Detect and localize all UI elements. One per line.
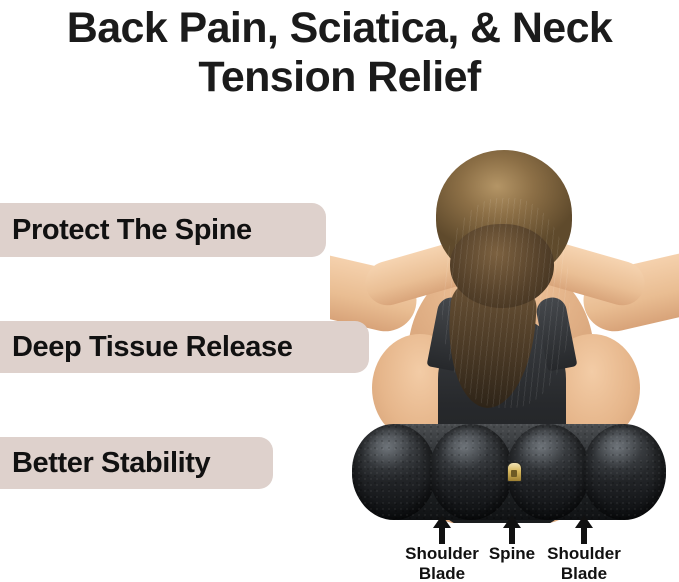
- annotation-shoulder-blade-right: Shoulder Blade: [534, 518, 634, 582]
- brand-logo-icon: [507, 462, 522, 482]
- annotation-label: Shoulder Blade: [534, 544, 634, 582]
- feature-badge-label: Better Stability: [12, 449, 210, 478]
- roller-lobe: [352, 424, 436, 520]
- page-title: Back Pain, Sciatica, & Neck Tension Reli…: [0, 4, 679, 102]
- feature-badge-deep-tissue-release: Deep Tissue Release: [0, 321, 369, 373]
- feature-badge-better-stability: Better Stability: [0, 437, 273, 489]
- feature-badge-label: Deep Tissue Release: [12, 333, 292, 362]
- annotation-label: Shoulder Blade: [392, 544, 492, 582]
- feature-badge-label: Protect The Spine: [12, 216, 252, 245]
- hair-strands: [442, 198, 570, 408]
- roller-lobe: [582, 424, 666, 520]
- roller-lobe: [429, 424, 513, 520]
- up-arrow-icon: [392, 518, 492, 544]
- up-arrow-icon: [534, 518, 634, 544]
- foam-roller: [352, 424, 666, 520]
- annotation-shoulder-blade-left: Shoulder Blade: [392, 518, 492, 582]
- feature-badge-protect-the-spine: Protect The Spine: [0, 203, 326, 257]
- product-infographic: Back Pain, Sciatica, & Neck Tension Reli…: [0, 0, 679, 582]
